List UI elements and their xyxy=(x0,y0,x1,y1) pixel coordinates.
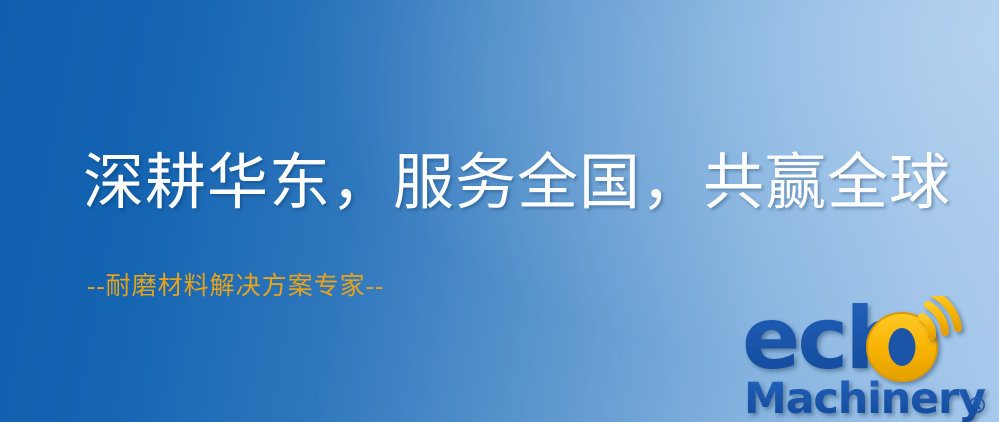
banner-subtitle: --耐磨材料解决方案专家-- xyxy=(87,266,384,302)
svg-text:®: ® xyxy=(966,394,988,419)
banner-headline: 深耕华东，服务全国，共赢全球 xyxy=(83,152,951,216)
hero-banner: 深耕华东，服务全国，共赢全球 --耐磨材料解决方案专家-- xyxy=(0,0,999,422)
logo-tagline: Machinery ® xyxy=(744,374,988,422)
svg-text:Machinery: Machinery xyxy=(744,374,986,422)
echo-machinery-logo[interactable]: ech Machinery ® xyxy=(742,296,999,422)
